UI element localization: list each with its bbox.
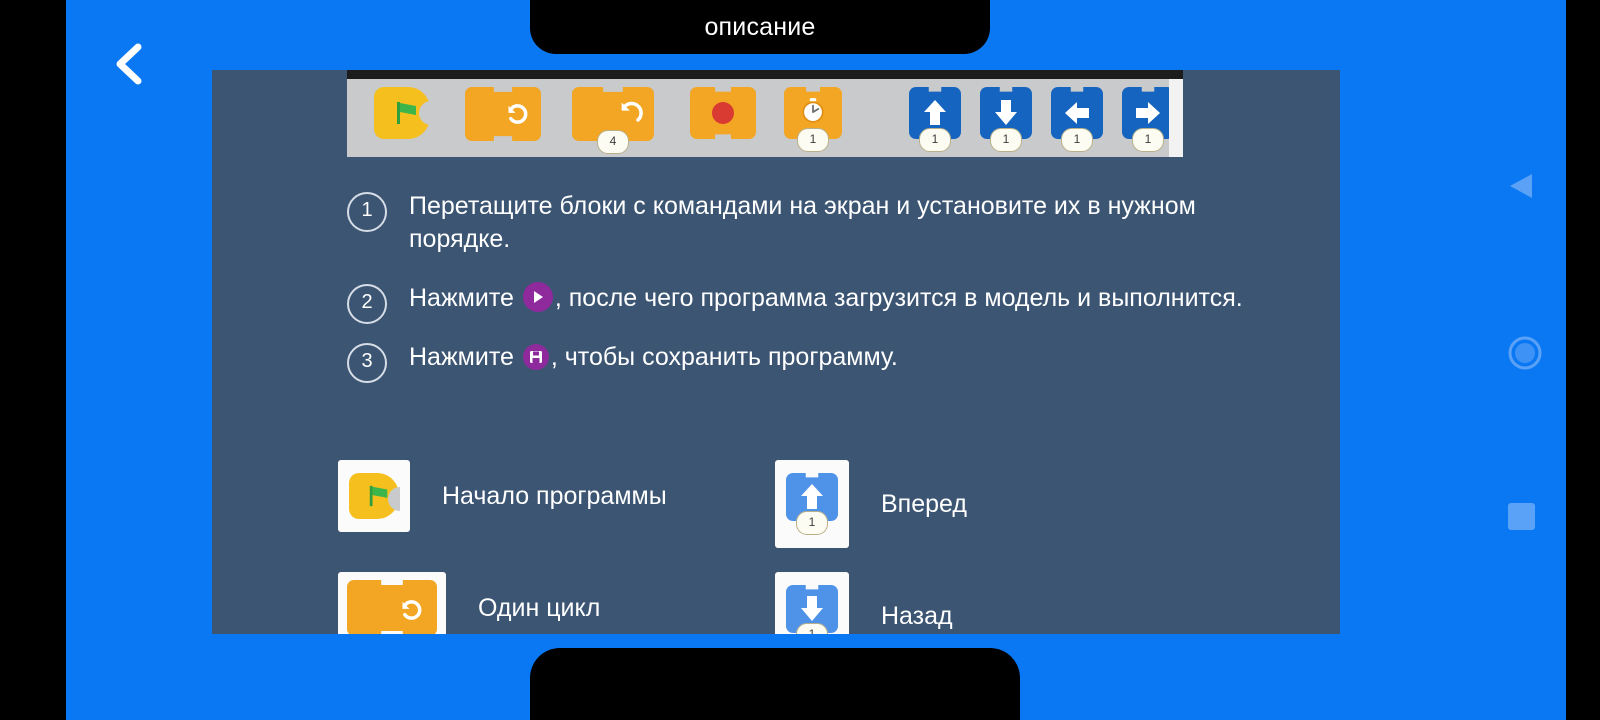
arrow-left-icon xyxy=(1063,100,1091,126)
right-value-badge: 1 xyxy=(1132,128,1164,152)
legend-label: Начало программы xyxy=(442,482,667,511)
instruction-steps: 1 Перетащите блоки с командами на экран … xyxy=(347,190,1247,400)
phone-screen: описание xyxy=(0,0,1600,720)
block-palette[interactable]: 4 xyxy=(347,70,1183,157)
block-legend: Начало программы 1 Вперед xyxy=(338,460,1318,634)
instruction-step-2: 2 Нажмите , после чего программа загрузи… xyxy=(347,282,1247,315)
chevron-left-icon xyxy=(104,38,156,90)
step-number: 3 xyxy=(347,343,387,383)
page-title: описание xyxy=(530,13,990,41)
instruction-step-1: 1 Перетащите блоки с командами на экран … xyxy=(347,190,1247,256)
arrow-down-icon xyxy=(993,98,1019,126)
palette-move-right-block[interactable]: 1 xyxy=(1122,87,1174,139)
green-flag-icon xyxy=(394,100,420,126)
arrow-down-icon xyxy=(799,594,825,622)
palette-loop-block[interactable] xyxy=(465,87,541,141)
loop-icon xyxy=(399,596,427,624)
legend-start-program: Начало программы xyxy=(338,460,667,532)
palette-move-forward-block[interactable]: 1 xyxy=(909,87,961,139)
back-button[interactable] xyxy=(104,38,156,90)
save-icon[interactable] xyxy=(523,344,549,370)
floppy-disk-icon xyxy=(529,350,543,364)
forward-value-badge: 1 xyxy=(919,128,951,152)
palette-timer-block[interactable]: 1 xyxy=(784,87,842,139)
stop-circle-icon xyxy=(710,100,736,126)
step-text-after: , чтобы сохранить программу. xyxy=(551,343,898,371)
palette-block-row: 4 xyxy=(347,79,1183,157)
palette-repeat-block[interactable]: 4 xyxy=(572,87,654,141)
step-number: 1 xyxy=(347,192,387,232)
legend-label: Один цикл xyxy=(478,594,600,623)
palette-stop-block[interactable] xyxy=(690,87,756,139)
arrow-right-icon xyxy=(1134,100,1162,126)
arrow-down-block-icon: 1 xyxy=(786,585,838,634)
palette-scrollbar[interactable] xyxy=(1169,79,1183,157)
loop-icon xyxy=(505,100,533,128)
palette-move-backward-block[interactable]: 1 xyxy=(980,87,1032,139)
legend-one-cycle: Один цикл xyxy=(338,572,600,634)
instruction-step-3: 3 Нажмите , чтобы сохранить программу. xyxy=(347,341,1247,374)
legend-value-badge: 1 xyxy=(796,623,828,634)
legend-row: Начало программы 1 Вперед xyxy=(338,460,1318,572)
legend-card: 1 xyxy=(775,572,849,634)
legend-label: Назад xyxy=(881,602,953,631)
top-notch: описание xyxy=(530,0,990,54)
step-text-before: Нажмите xyxy=(409,343,521,371)
system-recents-button[interactable] xyxy=(1508,503,1535,530)
right-bezel xyxy=(1566,0,1600,720)
palette-move-left-block[interactable]: 1 xyxy=(1051,87,1103,139)
legend-card: 1 xyxy=(775,460,849,548)
system-back-button[interactable] xyxy=(1508,172,1534,205)
palette-top-bar xyxy=(347,70,1183,79)
green-flag-icon xyxy=(367,484,391,508)
palette-start-flag-block[interactable] xyxy=(374,87,430,139)
bottom-notch xyxy=(530,648,1020,720)
flag-block-icon xyxy=(349,473,399,519)
system-home-button[interactable] xyxy=(1508,336,1542,375)
left-value-badge: 1 xyxy=(1061,128,1093,152)
legend-label: Вперед xyxy=(881,490,967,519)
backward-value-badge: 1 xyxy=(990,128,1022,152)
left-bezel xyxy=(0,0,66,720)
repeat-icon xyxy=(616,99,646,127)
step-text: Нажмите , чтобы сохранить программу. xyxy=(409,341,1247,374)
step-text-before: Нажмите xyxy=(409,284,521,312)
circle-home-icon xyxy=(1508,336,1542,370)
play-triangle-icon xyxy=(531,290,545,304)
play-icon[interactable] xyxy=(523,282,553,312)
step-number: 2 xyxy=(347,284,387,324)
legend-value-badge: 1 xyxy=(796,511,828,535)
legend-row: Один цикл 1 Назад xyxy=(338,572,1318,634)
repeat-count-badge: 4 xyxy=(597,130,629,154)
loop-block-icon xyxy=(347,580,437,634)
step-text: Перетащите блоки с командами на экран и … xyxy=(409,190,1247,256)
timer-value-badge: 1 xyxy=(797,128,829,152)
arrow-up-icon xyxy=(799,482,825,510)
legend-backward: 1 Назад xyxy=(775,572,953,634)
triangle-back-icon xyxy=(1508,172,1534,200)
legend-forward: 1 Вперед xyxy=(775,460,967,548)
step-text: Нажмите , после чего программа загрузитс… xyxy=(409,282,1247,315)
legend-card xyxy=(338,460,410,532)
stopwatch-icon xyxy=(799,97,827,125)
step-text-after: , после чего программа загрузится в моде… xyxy=(555,284,1243,312)
legend-card xyxy=(338,572,446,634)
arrow-up-icon xyxy=(922,98,948,126)
arrow-up-block-icon: 1 xyxy=(786,473,838,535)
